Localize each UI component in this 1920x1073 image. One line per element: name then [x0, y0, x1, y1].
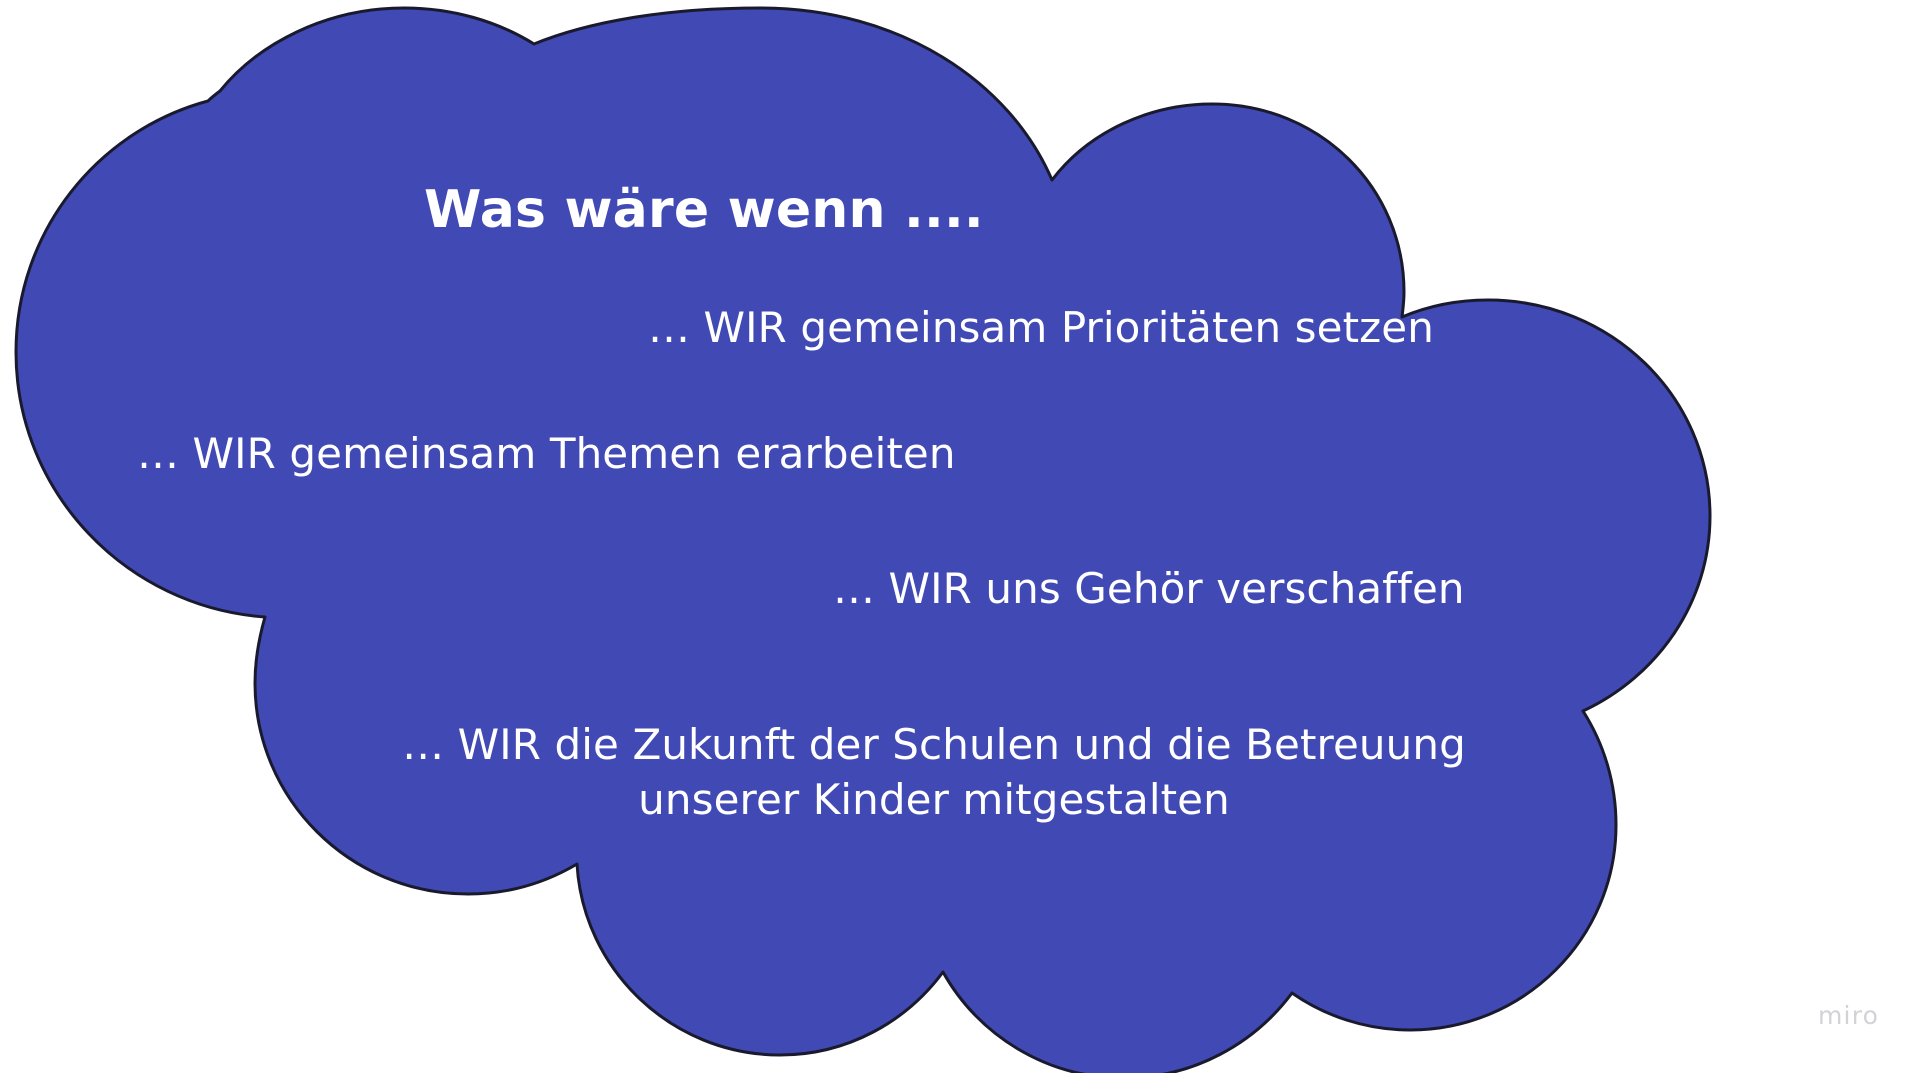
slide-canvas: Was wäre wenn .... … WIR gemeinsam Prior… — [0, 0, 1920, 1073]
statement-gehoer: … WIR uns Gehör verschaffen — [833, 568, 1465, 610]
cloud-title: Was wäre wenn .... — [424, 184, 984, 236]
cloud-text-layer: Was wäre wenn .... … WIR gemeinsam Prior… — [0, 0, 1920, 1073]
statement-themen: … WIR gemeinsam Themen erarbeiten — [137, 433, 956, 475]
statement-zukunft-schulen: … WIR die Zukunft der Schulen und die Be… — [384, 718, 1484, 827]
miro-watermark: miro — [1818, 1001, 1879, 1030]
statement-prioritaeten: … WIR gemeinsam Prioritäten setzen — [648, 307, 1434, 349]
